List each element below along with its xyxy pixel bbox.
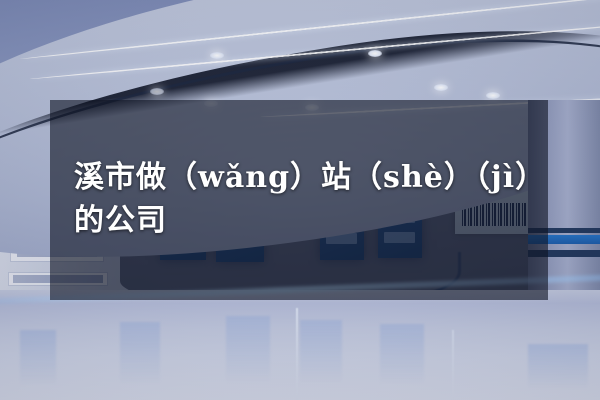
floor-reflection-5 [380, 324, 424, 400]
caption-text: 溪市做（wǎng）站（shè）（jì）的公司 [74, 157, 536, 242]
downlight-4 [486, 92, 500, 99]
downlight-2 [368, 50, 382, 57]
reflective-floor [0, 290, 600, 400]
downlight-3 [434, 84, 448, 91]
floor-reflection-4 [300, 320, 342, 400]
floor-reflection-column [528, 344, 588, 400]
floor-reflection-1 [20, 330, 56, 400]
floor-reflection-2 [120, 322, 160, 400]
floor-highlight-line-2 [452, 330, 454, 400]
caption-block: 溪市做（wǎng）站（shè）（jì）的公司 [50, 100, 548, 300]
screenshot-root: 溪市做（wǎng）站（shè）（jì）的公司 [0, 0, 600, 400]
downlight-1 [210, 52, 224, 59]
floor-highlight-line-1 [296, 308, 298, 400]
floor-reflection-3 [226, 316, 270, 400]
downlight-5 [150, 88, 164, 95]
